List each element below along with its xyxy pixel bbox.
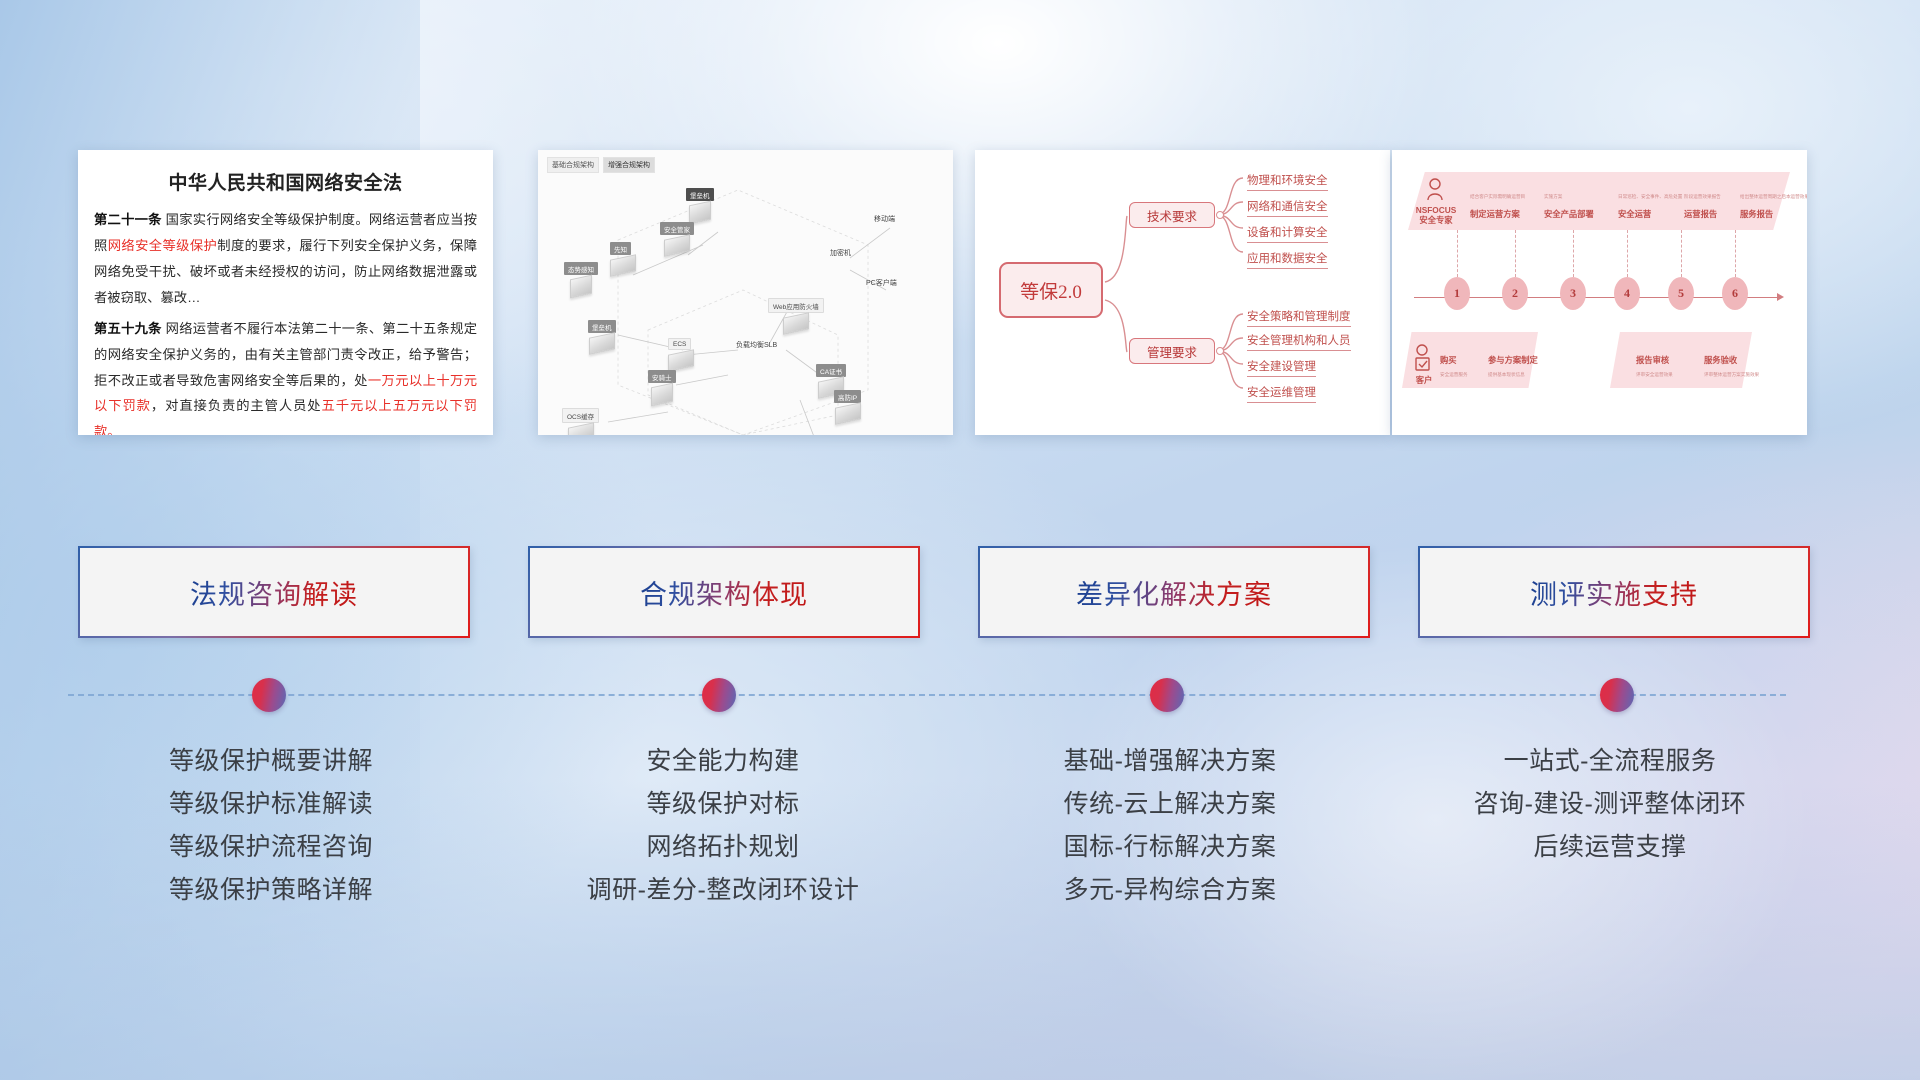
nsfocus-bottom-step-title: 购买 (1440, 354, 1457, 366)
mindmap-leaf: 安全运维管理 (1247, 384, 1316, 403)
mindmap-leaf: 安全策略和管理制度 (1247, 308, 1351, 327)
nsfocus-top-step-title: 运营报告 (1684, 208, 1717, 220)
architecture-node-icon (783, 312, 809, 335)
nsfocus-bottom-step-note: 提供基本现状信息 (1488, 372, 1525, 378)
architecture-node-label: ECS (668, 338, 691, 350)
list-item: 国标-行标解决方案 (955, 826, 1385, 869)
nsfocus-connector (1627, 230, 1628, 277)
timeline-dashed-line (68, 694, 1786, 696)
architecture-node-label: 负载均衡SLB (736, 342, 777, 349)
list-item: 网络拓扑规划 (508, 826, 938, 869)
architecture-node-label: PC客户端 (866, 280, 897, 287)
heading-label-3: 差异化解决方案 (1076, 573, 1272, 612)
law-article-59-mid: ，对直接负责的主管人员处 (151, 398, 322, 413)
lists-row: 等级保护概要讲解等级保护标准解读等级保护流程咨询等级保护策略详解 安全能力构建等… (0, 740, 1920, 970)
mindmap-leaf: 安全建设管理 (1247, 358, 1316, 377)
nsfocus-top-step-note: 日常巡检、安全事件、高危处置 (1618, 194, 1682, 200)
list-column-2: 安全能力构建等级保护对标网络拓扑规划调研-差分-整改闭环设计 (508, 740, 938, 912)
nsfocus-top-step-note: 结合客户实际需明确运营目 (1470, 194, 1525, 200)
heading-label-1: 法规咨询解读 (190, 573, 358, 612)
architecture-node-label: 先知 (610, 242, 631, 255)
list-item: 等级保护标准解读 (56, 783, 486, 826)
architecture-node: OCS缓存 (562, 408, 599, 435)
architecture-node-icon (668, 349, 694, 372)
architecture-node-label: 堡垒机 (588, 320, 616, 333)
nsfocus-top-step-title: 安全运营 (1618, 208, 1651, 220)
architecture-node-label: 高防IP (834, 390, 861, 403)
law-article-21: 第二十一条 国家实行网络安全等级保护制度。网络运营者应当按照网络安全等级保护制度… (94, 207, 477, 311)
nsfocus-connector (1457, 230, 1458, 277)
mindmap-leaf: 网络和通信安全 (1247, 198, 1328, 217)
architecture-node-icon (835, 402, 861, 425)
heading-box-differentiated-solution[interactable]: 差异化解决方案 (978, 546, 1370, 638)
mindmap-root-node: 等保2.0 (999, 262, 1103, 318)
heading-box-compliance-architecture[interactable]: 合规架构体现 (528, 546, 920, 638)
nsfocus-connector (1573, 230, 1574, 277)
nsfocus-top-step-note: 给出整体运营周期之后本运营效果 (1740, 194, 1807, 200)
architecture-node-label: 安骑士 (648, 370, 676, 383)
law-title: 中华人民共和国网络安全法 (78, 168, 493, 195)
list-item: 等级保护策略详解 (56, 869, 486, 912)
mindmap-leaf: 安全管理机构和人员 (1247, 332, 1351, 351)
nsfocus-top-step-title: 制定运营方案 (1470, 208, 1520, 220)
nsfocus-expert-band (1408, 172, 1790, 230)
nsfocus-bottom-step-note: 评审整体运营方案实施效果 (1704, 372, 1759, 378)
heading-box-evaluation-support[interactable]: 测评实施支持 (1418, 546, 1810, 638)
architecture-node-icon (570, 275, 592, 299)
nsfocus-customer-role: 客户 (1410, 374, 1438, 386)
architecture-node: 堡垒机 (686, 188, 714, 222)
timeline-dot-2[interactable] (702, 678, 736, 712)
heading-label-4: 测评实施支持 (1530, 573, 1698, 612)
nsfocus-step-marker: 5 (1668, 277, 1694, 310)
list-item: 后续运营支撑 (1395, 826, 1825, 869)
architecture-node-label: 堡垒机 (686, 188, 714, 201)
architecture-node-label: 安全管家 (660, 222, 694, 235)
architecture-nodes: 堡垒机安全管家先知态势感知堡垒机ECS安骑士OCS缓存RDS数据库数据库审计We… (538, 150, 953, 435)
nsfocus-bottom-step-note: 安全运营服务 (1440, 372, 1468, 378)
architecture-node: 态势感知 (564, 262, 598, 296)
nsfocus-step-marker: 6 (1722, 277, 1748, 310)
card-nsfocus-timeline[interactable]: NSFOCUS安全专家 客户 制定运营方案结合客户实际需明确运营目安全产品部署实… (1392, 150, 1807, 435)
architecture-node: 移动端 (874, 214, 895, 224)
list-item: 基础-增强解决方案 (955, 740, 1385, 783)
architecture-node: 负载均衡SLB (736, 340, 777, 350)
architecture-node-icon (610, 254, 636, 277)
nsfocus-connector (1735, 230, 1736, 277)
architecture-node-label: 加密机 (830, 250, 851, 257)
list-item: 安全能力构建 (508, 740, 938, 783)
nsfocus-connector (1515, 230, 1516, 277)
headings-row: 法规咨询解读 合规架构体现 差异化解决方案 测评实施支持 (0, 546, 1920, 642)
architecture-node-icon (568, 422, 594, 435)
nsfocus-connector (1681, 230, 1682, 277)
architecture-node: PC客户端 (866, 278, 897, 288)
architecture-node-icon (689, 201, 711, 225)
list-item: 调研-差分-整改闭环设计 (508, 869, 938, 912)
nsfocus-top-step-note: 实施方案 (1544, 194, 1562, 200)
architecture-node: Web应用防火墙 (768, 298, 824, 332)
list-item: 等级保护概要讲解 (56, 740, 486, 783)
mindmap-leaf: 物理和环境安全 (1247, 172, 1328, 191)
timeline (0, 660, 1920, 720)
list-item: 咨询-建设-测评整体闭环 (1395, 783, 1825, 826)
mindmap-branch-technical: 技术要求 (1129, 202, 1215, 228)
list-item: 一站式-全流程服务 (1395, 740, 1825, 783)
nsfocus-step-marker: 2 (1502, 277, 1528, 310)
heading-label-2: 合规架构体现 (640, 573, 808, 612)
timeline-dot-4[interactable] (1600, 678, 1634, 712)
architecture-node-label: Web应用防火墙 (768, 298, 824, 313)
nsfocus-top-step-note: 阶段运营效果报告 (1684, 194, 1721, 200)
law-article-21-highlight: 网络安全等级保护 (108, 238, 218, 253)
architecture-node: 安骑士 (648, 370, 676, 404)
law-article-59-label: 第五十九条 (94, 321, 162, 336)
architecture-node-label: CA证书 (816, 364, 846, 377)
nsfocus-bottom-step-note: 评审安全运营效果 (1636, 372, 1673, 378)
architecture-diagram: 基础合规架构 增强合规架构 (538, 150, 953, 435)
nsfocus-top-step-title: 安全产品部署 (1544, 208, 1594, 220)
nsfocus-bottom-step-title: 参与方案制定 (1488, 354, 1538, 366)
card-mindmap[interactable]: 等保2.0 技术要求 管理要求 物理和环境安全网络和通信安全设备和计算安全应用和… (975, 150, 1390, 435)
card-cybersecurity-law[interactable]: 中华人民共和国网络安全法 第二十一条 国家实行网络安全等级保护制度。网络运营者应… (78, 150, 493, 435)
card-cloud-architecture[interactable]: 基础合规架构 增强合规架构 (538, 150, 953, 435)
architecture-node: ECS (668, 338, 694, 369)
mindmap-branch-management: 管理要求 (1129, 338, 1215, 364)
mindmap-leaf: 应用和数据安全 (1247, 250, 1328, 269)
architecture-node: 堡垒机 (588, 320, 616, 352)
mindmap-diagram: 等保2.0 技术要求 管理要求 物理和环境安全网络和通信安全设备和计算安全应用和… (975, 150, 1390, 435)
list-column-4: 一站式-全流程服务咨询-建设-测评整体闭环后续运营支撑 (1395, 740, 1825, 869)
architecture-node: 高防IP (834, 390, 861, 422)
list-item: 等级保护对标 (508, 783, 938, 826)
nsfocus-bottom-step-title: 报告审核 (1636, 354, 1669, 366)
nsfocus-step-marker: 1 (1444, 277, 1470, 310)
mindmap-leaf: 设备和计算安全 (1247, 224, 1328, 243)
architecture-node: 加密机 (830, 248, 851, 258)
architecture-node-label: 态势感知 (564, 262, 598, 275)
law-article-21-label: 第二十一条 (94, 212, 162, 227)
architecture-node-label: OCS缓存 (562, 408, 599, 423)
nsfocus-diagram: NSFOCUS安全专家 客户 制定运营方案结合客户实际需明确运营目安全产品部署实… (1392, 150, 1807, 435)
timeline-dot-3[interactable] (1150, 678, 1184, 712)
list-column-3: 基础-增强解决方案传统-云上解决方案国标-行标解决方案多元-异构综合方案 (955, 740, 1385, 912)
architecture-node-label: 移动端 (874, 216, 895, 223)
architecture-node: 先知 (610, 242, 636, 274)
nsfocus-top-step-title: 服务报告 (1740, 208, 1773, 220)
nsfocus-expert-role: NSFOCUS安全专家 (1414, 206, 1458, 225)
list-item: 传统-云上解决方案 (955, 783, 1385, 826)
architecture-node-icon (589, 332, 615, 355)
architecture-node-icon (651, 383, 673, 407)
law-body: 第二十一条 国家实行网络安全等级保护制度。网络运营者应当按照网络安全等级保护制度… (78, 207, 493, 435)
heading-box-regulation-consulting[interactable]: 法规咨询解读 (78, 546, 470, 638)
nsfocus-axis-arrow (1777, 293, 1784, 301)
list-column-1: 等级保护概要讲解等级保护标准解读等级保护流程咨询等级保护策略详解 (56, 740, 486, 912)
slide-root: 中华人民共和国网络安全法 第二十一条 国家实行网络安全等级保护制度。网络运营者应… (0, 0, 1920, 1080)
list-item: 多元-异构综合方案 (955, 869, 1385, 912)
timeline-dot-1[interactable] (252, 678, 286, 712)
nsfocus-step-marker: 4 (1614, 277, 1640, 310)
law-article-59: 第五十九条 网络运营者不履行本法第二十一条、第二十五条规定的网络安全保护义务的，… (94, 316, 477, 435)
architecture-node-icon (664, 234, 690, 257)
architecture-node: 安全管家 (660, 222, 694, 254)
nsfocus-bottom-step-title: 服务验收 (1704, 354, 1737, 366)
nsfocus-step-marker: 3 (1560, 277, 1586, 310)
cards-row: 中华人民共和国网络安全法 第二十一条 国家实行网络安全等级保护制度。网络运营者应… (0, 150, 1920, 440)
list-item: 等级保护流程咨询 (56, 826, 486, 869)
